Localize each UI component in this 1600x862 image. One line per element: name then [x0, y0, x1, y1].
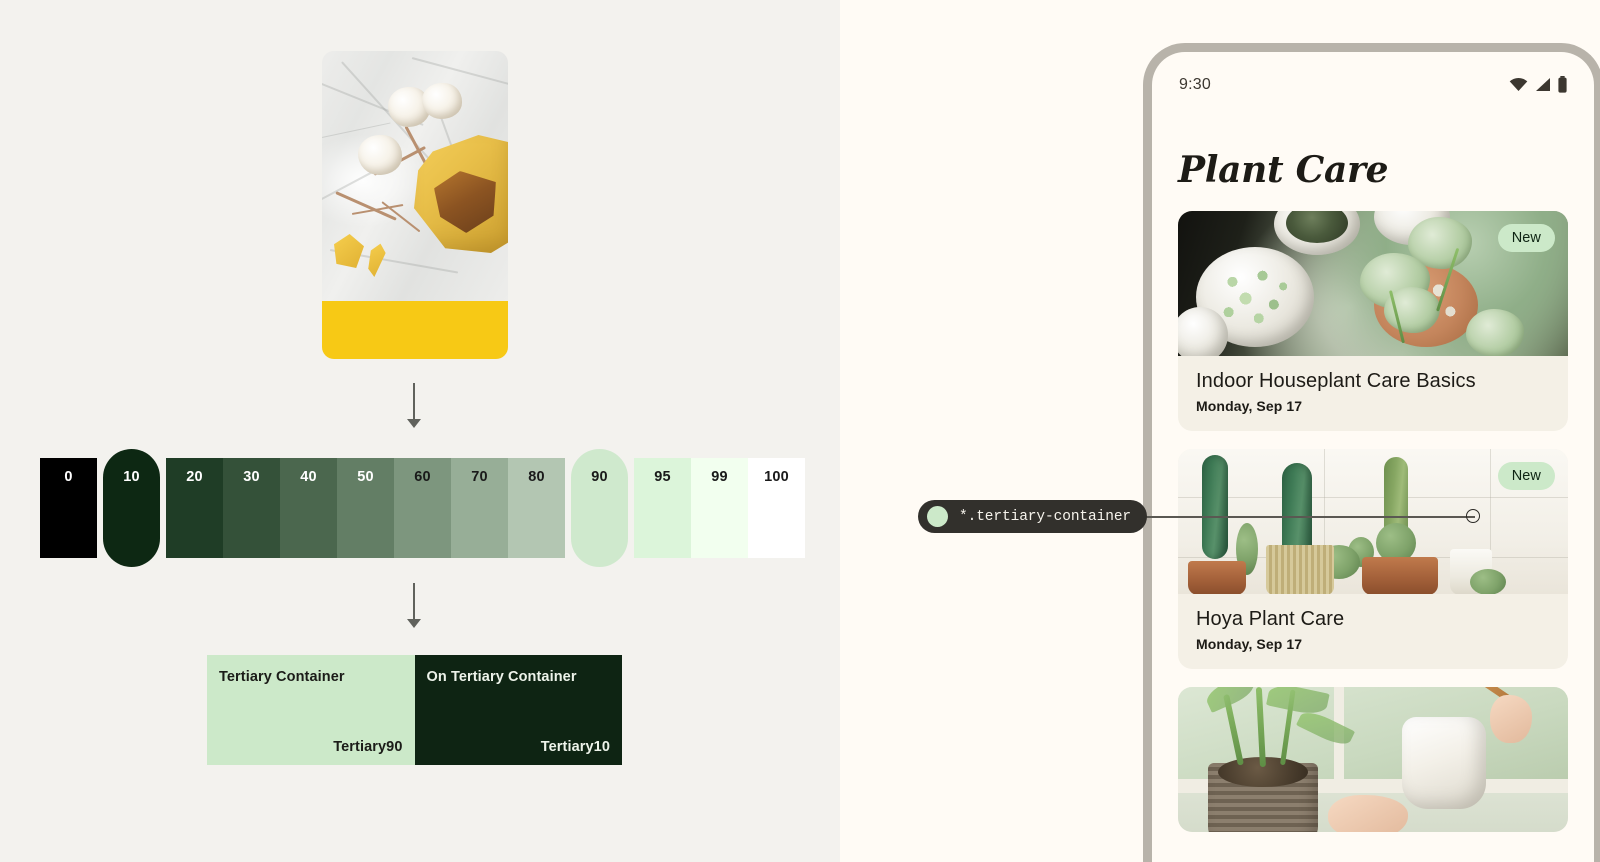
- color-role-pair: Tertiary ContainerTertiary90On Tertiary …: [207, 655, 622, 765]
- color-role-name: On Tertiary Container: [427, 669, 611, 685]
- tone-label: 50: [357, 469, 374, 558]
- color-role-box[interactable]: On Tertiary ContainerTertiary10: [415, 655, 623, 765]
- tone-swatch-99[interactable]: 99: [691, 458, 748, 558]
- tone-swatch-60[interactable]: 60: [394, 458, 451, 558]
- phone-frame: 9:30: [1143, 43, 1600, 862]
- tonal-palette: 01020304050607080909599100: [40, 458, 805, 558]
- status-time: 9:30: [1179, 76, 1211, 94]
- token-name: *.tertiary-container: [959, 509, 1131, 525]
- source-image-photo: [322, 51, 508, 301]
- tone-swatch-40[interactable]: 40: [280, 458, 337, 558]
- device-preview-panel: 9:30: [840, 0, 1600, 862]
- cursor-pointer-icon: [1466, 509, 1480, 523]
- card-title: Indoor Houseplant Care Basics: [1196, 370, 1550, 393]
- article-card[interactable]: [1178, 687, 1568, 832]
- tone-label: 100: [764, 469, 789, 558]
- color-role-box[interactable]: Tertiary ContainerTertiary90: [207, 655, 415, 765]
- source-extracted-swatch: [322, 301, 508, 359]
- article-card[interactable]: NewHoya Plant CareMonday, Sep 17: [1178, 449, 1568, 669]
- palette-panel: 01020304050607080909599100 Tertiary Cont…: [0, 0, 840, 862]
- battery-icon: [1557, 76, 1568, 98]
- tone-label: 60: [414, 469, 431, 558]
- card-body: Indoor Houseplant Care BasicsMonday, Sep…: [1178, 356, 1568, 431]
- status-badge: New: [1498, 224, 1555, 252]
- card-title: Hoya Plant Care: [1196, 608, 1550, 631]
- color-role-name: Tertiary Container: [219, 669, 403, 685]
- status-bar: 9:30: [1152, 52, 1594, 114]
- card-image: [1178, 687, 1568, 832]
- source-image-card[interactable]: [322, 51, 508, 359]
- color-token-tooltip: *.tertiary-container: [918, 500, 1147, 533]
- tone-label: 0: [64, 469, 72, 558]
- article-card[interactable]: NewIndoor Houseplant Care BasicsMonday, …: [1178, 211, 1568, 431]
- article-card-list: NewIndoor Houseplant Care BasicsMonday, …: [1152, 211, 1594, 832]
- tone-swatch-95[interactable]: 95: [634, 458, 691, 558]
- card-image: New: [1178, 211, 1568, 356]
- tone-label: 30: [243, 469, 260, 558]
- wifi-icon: [1509, 77, 1528, 97]
- flow-arrow-down-icon: [407, 583, 421, 629]
- tone-swatch-90[interactable]: 90: [571, 449, 628, 567]
- tone-swatch-0[interactable]: 0: [40, 458, 97, 558]
- tone-label: 90: [591, 469, 608, 567]
- tone-label: 80: [528, 469, 545, 558]
- status-badge: New: [1498, 462, 1555, 490]
- tone-swatch-30[interactable]: 30: [223, 458, 280, 558]
- tone-swatch-100[interactable]: 100: [748, 458, 805, 558]
- color-role-tone: Tertiary10: [427, 739, 611, 755]
- flow-arrow-down-icon: [407, 383, 421, 429]
- tone-swatch-10[interactable]: 10: [103, 449, 160, 567]
- tone-label: 20: [186, 469, 203, 558]
- page-title: Plant Care: [1178, 149, 1594, 191]
- card-date: Monday, Sep 17: [1196, 398, 1550, 414]
- tone-label: 10: [123, 469, 140, 567]
- screenshot-stage: 01020304050607080909599100 Tertiary Cont…: [0, 0, 1600, 862]
- tone-swatch-80[interactable]: 80: [508, 458, 565, 558]
- card-date: Monday, Sep 17: [1196, 636, 1550, 652]
- token-swatch-icon: [927, 506, 948, 527]
- tone-label: 40: [300, 469, 317, 558]
- signal-icon: [1534, 77, 1551, 97]
- tone-swatch-70[interactable]: 70: [451, 458, 508, 558]
- tone-swatch-20[interactable]: 20: [166, 458, 223, 558]
- status-icons: [1509, 76, 1568, 98]
- tone-label: 70: [471, 469, 488, 558]
- color-role-tone: Tertiary90: [219, 739, 403, 755]
- tone-swatch-50[interactable]: 50: [337, 458, 394, 558]
- card-image: New: [1178, 449, 1568, 594]
- tone-label: 99: [711, 469, 728, 558]
- tone-label: 95: [654, 469, 671, 558]
- card-body: Hoya Plant CareMonday, Sep 17: [1178, 594, 1568, 669]
